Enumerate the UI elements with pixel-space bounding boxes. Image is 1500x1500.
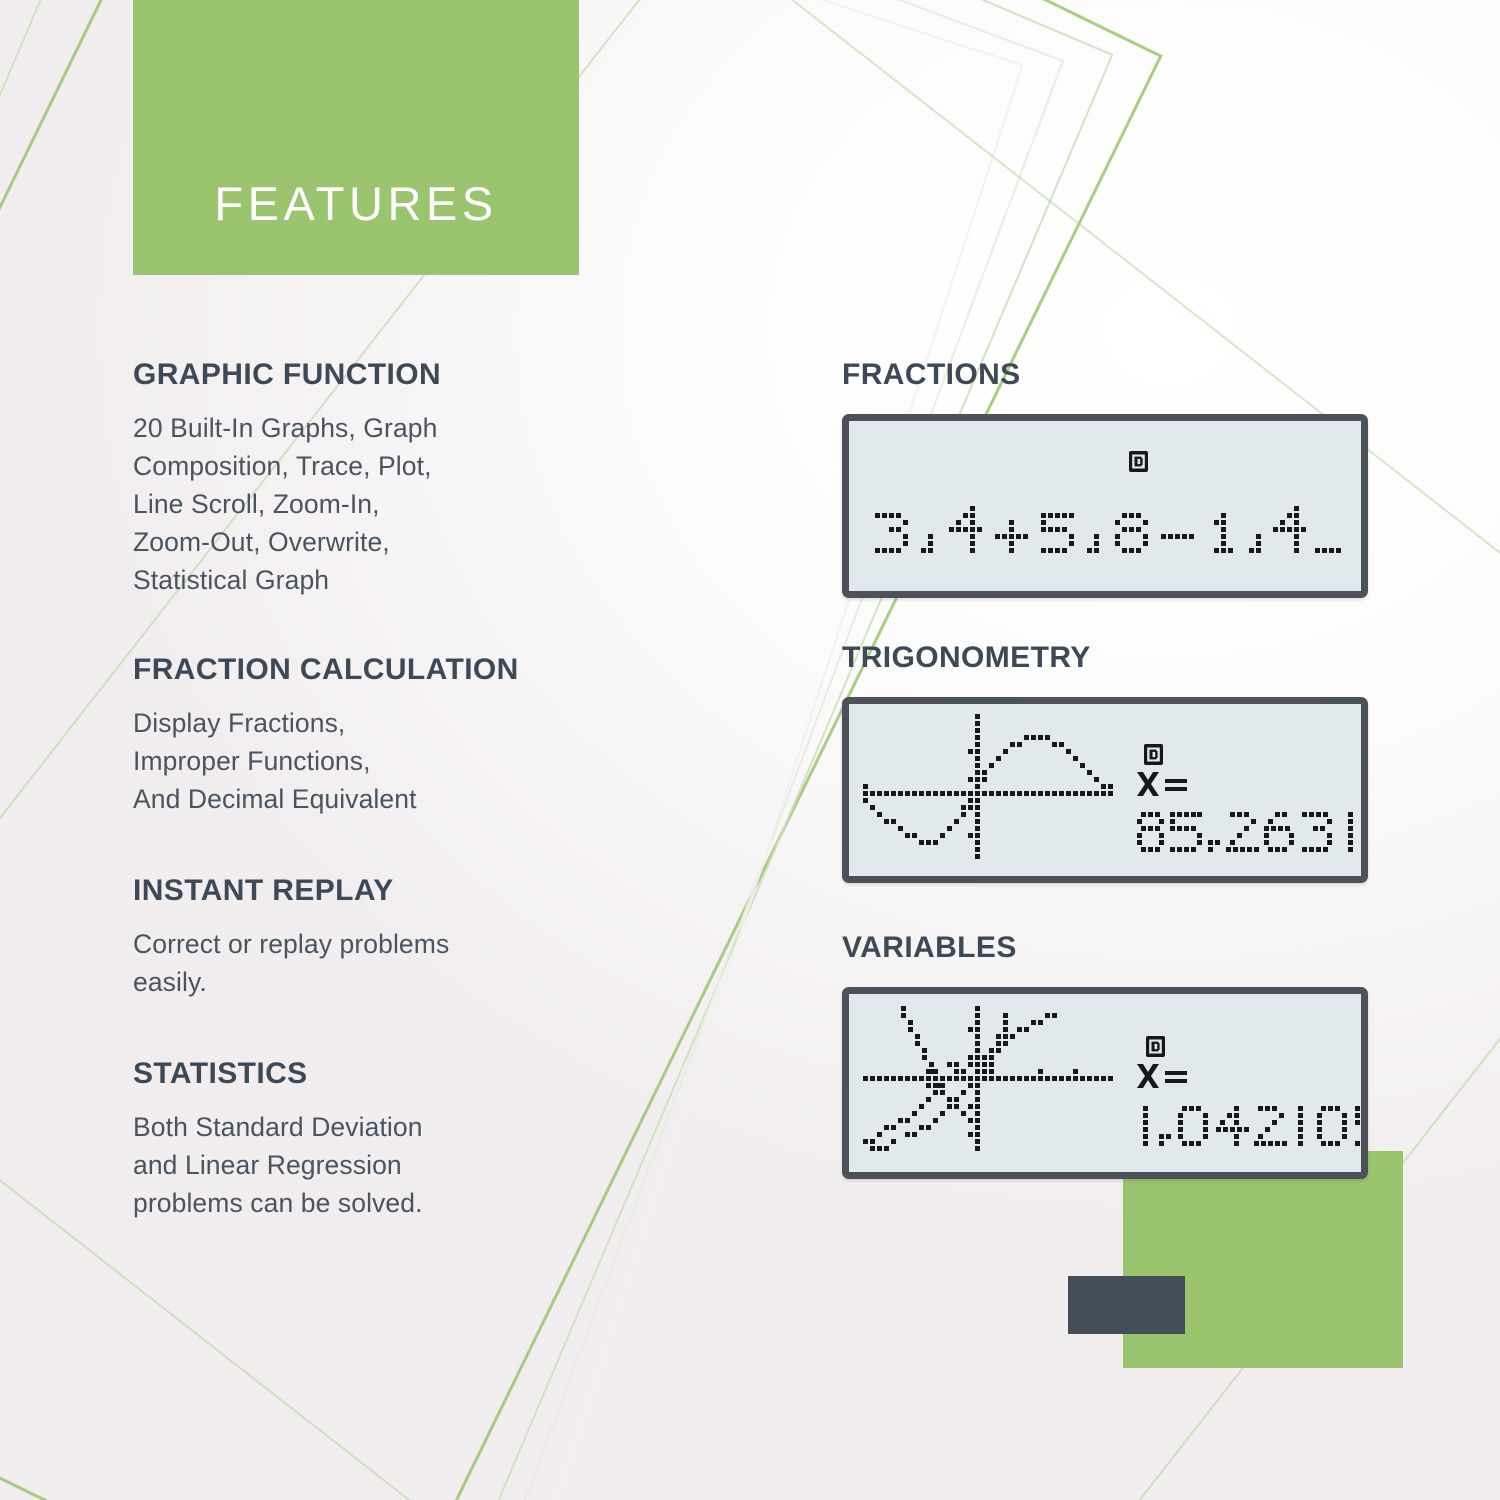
feature-heading: INSTANT REPLAY bbox=[133, 874, 733, 908]
lcd-screen-trigonometry bbox=[842, 697, 1368, 883]
lcd-render-trigonometry bbox=[849, 704, 1361, 876]
feature-description: 20 Built-In Graphs, Graph Composition, T… bbox=[133, 409, 733, 599]
lcd-render-fractions bbox=[849, 421, 1361, 591]
lcd-value-digits bbox=[1137, 812, 1361, 852]
lcd-screen-variables bbox=[842, 987, 1368, 1179]
display-heading: TRIGONOMETRY bbox=[842, 641, 1382, 675]
lcd-render-variables bbox=[849, 994, 1361, 1172]
graph-sine-curve bbox=[863, 735, 1113, 845]
feature-description: Correct or replay problems easily. bbox=[133, 925, 733, 1001]
feature-description: Both Standard Deviation and Linear Regre… bbox=[133, 1108, 733, 1222]
display-heading: VARIABLES bbox=[842, 931, 1382, 965]
mode-indicator-d bbox=[1129, 451, 1148, 472]
features-banner-title: FEATURES bbox=[214, 176, 497, 231]
graph-line-secondary bbox=[870, 1013, 1008, 1151]
feature-item-statistics: STATISTICS Both Standard Deviation and L… bbox=[133, 1057, 733, 1222]
display-heading: FRACTIONS bbox=[842, 358, 1382, 392]
lcd-prompt-x-equals bbox=[1137, 772, 1187, 796]
graph-y-axis bbox=[968, 714, 980, 859]
graph-x-axis bbox=[863, 1076, 1113, 1081]
mode-indicator-d bbox=[1146, 1036, 1165, 1057]
mode-indicator-d bbox=[1144, 744, 1163, 765]
feature-item-instant-replay: INSTANT REPLAY Correct or replay problem… bbox=[133, 874, 733, 1001]
lcd-value-digits bbox=[1143, 1106, 1361, 1146]
lcd-expression-dots bbox=[875, 506, 1341, 553]
lcd-screen-icon bbox=[849, 994, 1361, 1172]
feature-item-graphic-function: GRAPHIC FUNCTION 20 Built-In Graphs, Gra… bbox=[133, 358, 733, 599]
display-item-trigonometry: TRIGONOMETRY bbox=[842, 641, 1382, 883]
calculator-base-tab bbox=[1068, 1276, 1185, 1334]
display-item-variables: VARIABLES bbox=[842, 931, 1382, 1179]
lcd-screen-icon bbox=[849, 421, 1361, 591]
feature-list: GRAPHIC FUNCTION 20 Built-In Graphs, Gra… bbox=[133, 358, 733, 1222]
feature-infographic-page: FEATURES GRAPHIC FUNCTION 20 Built-In Gr… bbox=[0, 0, 1500, 1500]
feature-heading: GRAPHIC FUNCTION bbox=[133, 358, 733, 392]
feature-heading: STATISTICS bbox=[133, 1057, 733, 1091]
feature-heading: FRACTION CALCULATION bbox=[133, 653, 733, 687]
feature-item-fraction-calculation: FRACTION CALCULATION Display Fractions, … bbox=[133, 653, 733, 818]
graph-run bbox=[947, 1062, 1078, 1074]
lcd-cursor bbox=[1315, 548, 1341, 553]
graph-x-axis bbox=[863, 784, 1113, 796]
lcd-prompt-x-equals bbox=[1137, 1064, 1187, 1088]
graph-line-steep bbox=[901, 1006, 973, 1123]
features-banner: FEATURES bbox=[133, 0, 579, 275]
lcd-screen-icon bbox=[849, 704, 1361, 876]
display-gallery: FRACTIONS bbox=[842, 358, 1382, 1219]
lcd-screen-fractions bbox=[842, 414, 1368, 598]
display-item-fractions: FRACTIONS bbox=[842, 358, 1382, 598]
feature-description: Display Fractions, Improper Functions, A… bbox=[133, 704, 733, 818]
